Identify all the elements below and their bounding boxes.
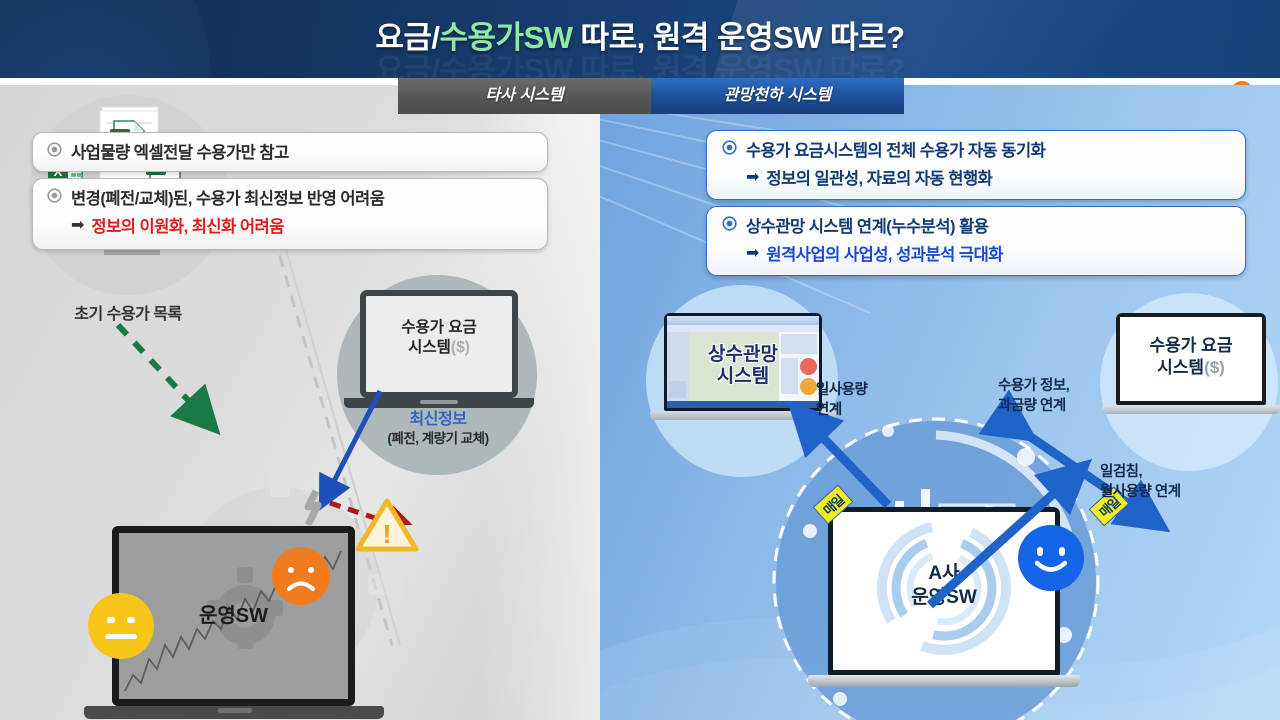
billing-laptop-money: ($) xyxy=(451,339,470,356)
sad-face-icon xyxy=(272,547,330,605)
billing-laptop-line1: 수용가 요금 xyxy=(401,319,477,336)
link-daily-usage-l1: 일사용량 xyxy=(816,382,867,398)
link-meter-l2: 월사용량 연계 xyxy=(1100,484,1181,500)
bullet-circle-icon xyxy=(722,216,737,231)
page-title-pre: 요금/ xyxy=(375,20,439,55)
link-customer-l2: 과금량 연계 xyxy=(998,398,1066,414)
left-bullet-2-sub: 정보의 이원화, 최신화 어려움 xyxy=(91,216,284,239)
left-bullet-1-text: 사업물량 엑셀전달 수용가만 참고 xyxy=(71,142,289,165)
link-meter-caption: 일검침, 월사용량 연계 xyxy=(1100,463,1181,502)
page-title-accent: 수용가SW xyxy=(440,20,573,55)
billing-laptop-line2: 시스템 xyxy=(408,339,451,356)
comparison-tabbar: VS 타사 시스템 관망천하 시스템 xyxy=(398,78,904,114)
tab-other-system[interactable]: 타사 시스템 xyxy=(398,78,651,114)
link-daily-usage-caption: 일사용량 연계 xyxy=(816,381,867,420)
link-customer-l1: 수용가 정보, xyxy=(998,378,1069,394)
page-title-post: 따로, 원격 운영SW 따로? xyxy=(573,20,905,55)
right-bullet-1-text: 수용가 요금시스템의 전체 수용가 자동 동기화 xyxy=(746,140,1045,163)
bullet-circle-icon xyxy=(47,188,62,203)
right-bullet-2-text: 상수관망 시스템 연계(누수분석) 활용 xyxy=(746,216,988,239)
ops-laptop-notch xyxy=(218,708,252,713)
left-bullet-2-text: 변경(폐전/교체)된, 수용가 최신정보 반영 어려움 xyxy=(71,188,384,211)
slide-header: 요금/수용가SW 따로, 원격 운영SW 따로? 요금/수용가SW 따로, 원격… xyxy=(0,0,1280,78)
right-bullet-box-2: 상수관망 시스템 연계(누수분석) 활용 ➡ 원격사업의 사업성, 성과분석 극… xyxy=(706,206,1246,276)
link-meter-l1: 일검침, xyxy=(1100,464,1142,480)
warning-triangle-icon: ! xyxy=(355,497,419,555)
tab-gwanmang-system[interactable]: 관망천하 시스템 xyxy=(651,78,904,114)
arrow-right-icon: ➡ xyxy=(746,244,759,265)
bullet-circle-icon xyxy=(722,140,737,155)
left-bullet-box-2: 변경(폐전/교체)된, 수용가 최신정보 반영 어려움 ➡ 정보의 이원화, 최… xyxy=(32,178,548,250)
bullet-circle-icon xyxy=(47,142,62,157)
right-bullet-1-sub: 정보의 일관성, 자료의 자동 현행화 xyxy=(766,168,992,191)
arrow-right-icon: ➡ xyxy=(746,168,759,189)
warning-glyph: ! xyxy=(383,519,392,549)
left-bullet-box-1: 사업물량 엑셀전달 수용가만 참고 xyxy=(32,132,548,172)
right-bullet-box-1: 수용가 요금시스템의 전체 수용가 자동 동기화 ➡ 정보의 일관성, 자료의 … xyxy=(706,130,1246,200)
link-customer-caption: 수용가 정보, 과금량 연계 xyxy=(998,377,1069,416)
right-bullet-2-sub: 원격사업의 사업성, 성과분석 극대화 xyxy=(766,244,1003,267)
billing-laptop-screen: 수용가 요금 시스템($) xyxy=(360,290,518,398)
neutral-face-icon xyxy=(88,593,154,659)
page-title: 요금/수용가SW 따로, 원격 운영SW 따로? xyxy=(0,12,1280,57)
link-daily-usage-l2: 연계 xyxy=(816,402,842,418)
green-dashed-arrow-icon xyxy=(100,317,260,447)
slide-root: 요금/수용가SW 따로, 원격 운영SW 따로? 요금/수용가SW 따로, 원격… xyxy=(0,0,1280,720)
arrow-right-icon: ➡ xyxy=(71,216,84,237)
